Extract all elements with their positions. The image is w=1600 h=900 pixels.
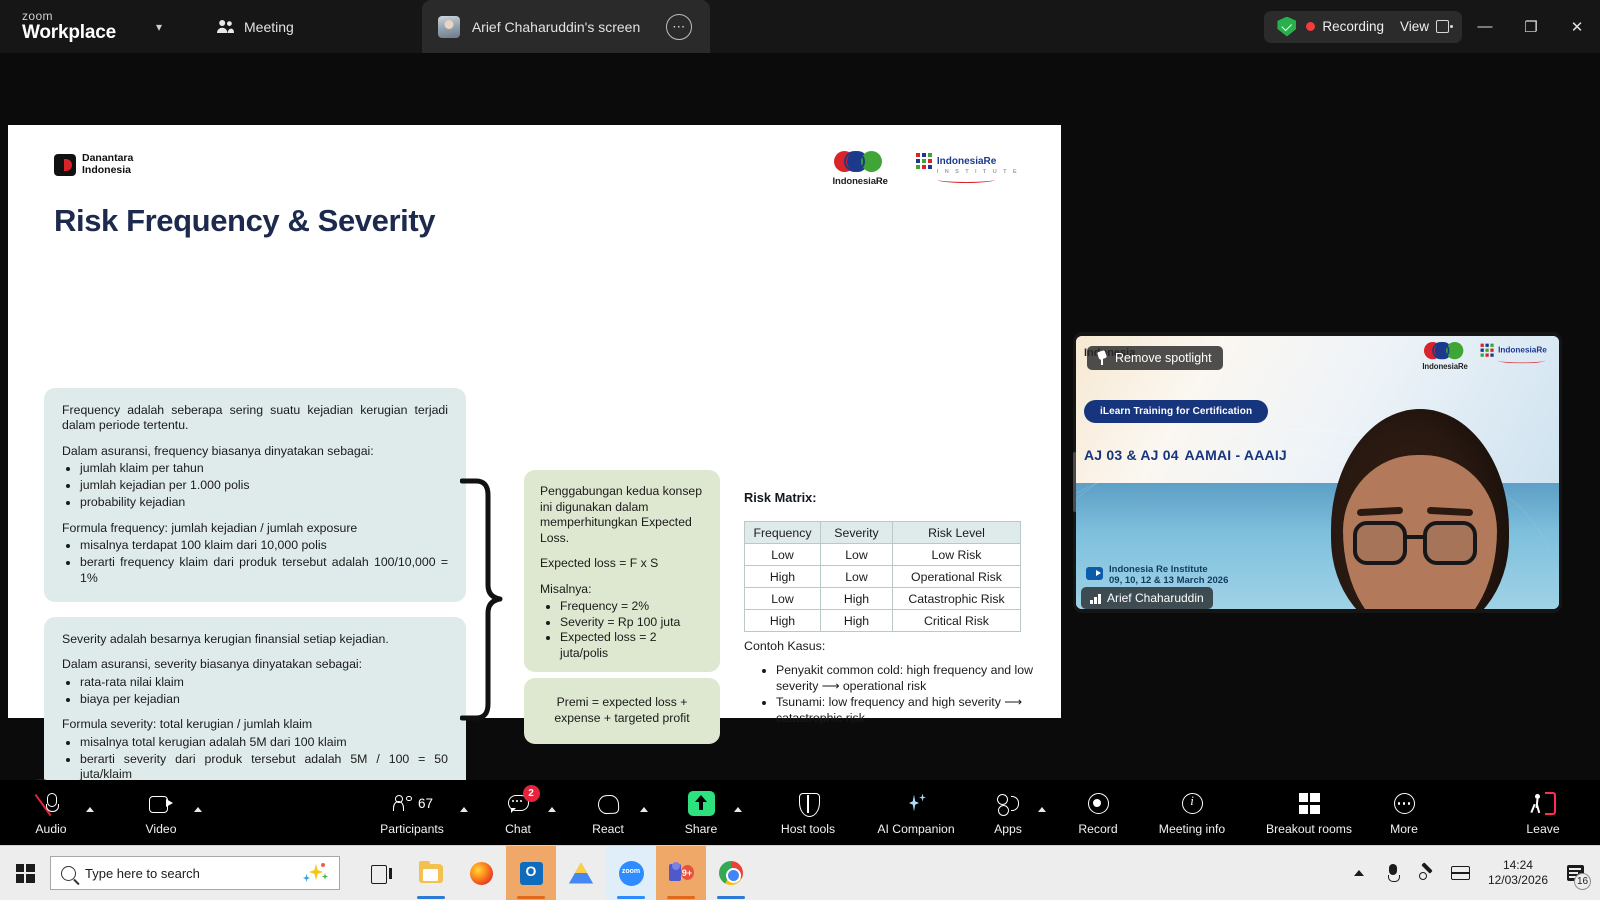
status-pill: Recording View [1264,11,1462,43]
table-header-row: Frequency Severity Risk Level [745,522,1021,544]
list-item: Tsunami: low frequency and high severity… [776,695,1060,726]
shield-icon [799,793,818,815]
shield-check-icon[interactable] [1277,17,1296,37]
tab-meeting-label: Meeting [244,19,294,35]
danantara-logo: Danantara Indonesia [54,153,133,177]
shared-slide: Danantara Indonesia IndonesiaRe [8,125,1061,718]
contoh-kasus-list: Penyakit common cold: high frequency and… [776,663,1060,728]
video-label: Video [146,822,177,836]
virtual-bg-logos: IndonesiaRe IndonesiaRe [1422,342,1547,372]
pen-icon[interactable] [1410,846,1444,900]
host-tools-label: Host tools [781,822,835,836]
frequency-p1: Frequency adalah seberapa sering suatu k… [62,403,448,434]
cell-severity: Low [821,566,893,588]
remove-spotlight-button[interactable]: Remove spotlight [1087,346,1223,370]
list-item: berarti frequency klaim dari produk ters… [80,555,448,586]
risk-matrix-table: Frequency Severity Risk Level Low Low Lo… [744,521,1021,632]
participants-count: 67 [418,796,433,811]
institute-subtitle: I N S T I T U T E [937,169,1019,175]
frequency-panel: Frequency adalah seberapa sering suatu k… [44,388,466,602]
notification-center-button[interactable]: 16 [1558,846,1592,900]
view-label: View [1400,19,1429,34]
audio-options-caret-icon[interactable] [86,807,94,812]
meeting-info-label: Meeting info [1159,822,1225,836]
search-icon [61,866,76,881]
outlook-icon[interactable] [506,846,556,900]
list-item: Severity = Rp 100 juta [560,615,704,631]
heart-icon [598,794,618,813]
table-row: High High Critical Risk [745,610,1021,632]
apps-icon [997,794,1020,814]
virtual-bg-logo-re: IndonesiaRe [1422,363,1467,372]
virtual-bg-footer: Indonesia Re Institute 09, 10, 12 & 13 M… [1086,565,1228,587]
slide-logos: IndonesiaRe IndonesiaRe I N S T I T U T … [832,151,1019,187]
clock-time: 14:24 [1488,858,1548,873]
apps-label: Apps [994,822,1022,836]
dots-grid-icon [1481,342,1494,357]
risk-matrix-title: Risk Matrix: [744,490,817,505]
glasses-bridge [1407,535,1423,539]
column-header-severity: Severity [821,522,893,544]
cell-frequency: Low [745,588,821,610]
cell-severity: High [821,610,893,632]
table-row: Low High Catastrophic Risk [745,588,1021,610]
page-title: Risk Frequency & Severity [54,203,435,239]
virtual-bg-logo-inst: IndonesiaRe [1498,346,1547,355]
table-row: High Low Operational Risk [745,566,1021,588]
google-drive-icon[interactable] [556,846,606,900]
teams-badge: 9+ [681,865,694,880]
indonesiare-logo: IndonesiaRe [1422,342,1467,372]
tab-meeting[interactable]: Meeting [196,0,314,53]
indonesiare-logo: IndonesiaRe [832,151,887,187]
ai-companion-button[interactable]: AI Companion [870,790,962,836]
virtual-bg-title-bold: AJ 03 & AJ 04 [1084,447,1179,463]
list-item: misalnya total kerugian adalah 5M dari 1… [80,735,448,751]
layout-icon [1436,20,1449,33]
touch-keyboard-icon[interactable] [1444,846,1478,900]
severity-p3: Formula severity: total kerugian / jumla… [62,717,448,732]
virtual-bg-title: AJ 03 & AJ 04 AAMAI - AAAIJ [1084,440,1287,466]
list-item: Expected loss = 2 juta/polis [560,630,704,662]
record-icon [1088,793,1109,814]
cell-frequency: High [745,610,821,632]
selfview-video: Indonesia IndonesiaRe [1076,336,1559,609]
cell-risk-level: Low Risk [893,544,1021,566]
search-placeholder: Type here to search [85,866,294,881]
search-input[interactable]: Type here to search [50,856,340,890]
cell-risk-level: Operational Risk [893,566,1021,588]
list-item: Frequency = 2% [560,599,704,615]
notification-count-badge: 16 [1574,873,1591,890]
copilot-sparkle-icon[interactable] [303,863,329,883]
tab-overflow-icon[interactable]: ⋯ [666,14,692,40]
video-camera-icon [1086,567,1103,580]
expected-p1: Penggabungan kedua konsep ini digunakan … [540,484,704,546]
list-item: probability kejadian [80,495,448,511]
maximize-button[interactable]: ❐ [1508,0,1554,53]
more-label: More [1390,822,1418,836]
list-item: berarti severity dari produk tersebut ad… [80,752,448,783]
chat-label: Chat [505,822,531,836]
share-screen-icon [688,791,715,816]
remove-spotlight-label: Remove spotlight [1115,351,1212,365]
column-header-frequency: Frequency [745,522,821,544]
institute-swoosh-icon [937,176,995,183]
react-options-caret-icon[interactable] [640,807,648,812]
audio-signal-icon [1090,593,1101,604]
chat-button[interactable]: 2 Chat [496,790,540,836]
list-item: Penyakit common cold: high frequency and… [776,663,1060,694]
expected-loss-panel: Penggabungan kedua konsep ini digunakan … [524,470,720,672]
list-item: biaya per kejadian [80,692,448,708]
contoh-kasus-title: Contoh Kasus: [744,639,825,653]
leave-button[interactable]: Leave [1520,790,1566,836]
cell-frequency: Low [745,544,821,566]
severity-p2: Dalam asuransi, severity biasanya dinyat… [62,657,448,672]
cell-risk-level: Critical Risk [893,610,1021,632]
participants-label: Participants [380,822,444,836]
react-label: React [592,822,624,836]
frequency-p2: Dalam asuransi, frequency biasanya dinya… [62,444,448,459]
share-button[interactable]: Share [676,790,726,836]
frequency-bullets-2: misalnya terdapat 100 klaim dari 10,000 … [80,538,448,586]
audio-button[interactable]: Audio [24,790,78,836]
zoom-workplace-logo: zoom Workplace [22,10,132,43]
audio-group: Audio [24,790,94,836]
zoom-icon[interactable] [606,846,656,900]
frequency-bullets-1: jumlah klaim per tahun jumlah kejadian p… [80,461,448,510]
file-explorer-icon[interactable] [406,846,456,900]
meeting-control-bar: Audio Video 67 Participants [0,780,1600,845]
tab-shared-screen[interactable]: Arief Chaharuddin's screen ⋯ [422,0,710,53]
virtual-bg-badge: iLearn Training for Certification [1084,400,1268,423]
participant-name-label: Arief Chaharuddin [1107,591,1204,605]
people-icon [391,795,413,813]
firefox-icon[interactable] [456,846,506,900]
zoom-meeting-window: zoom Workplace ▾ Meeting Arief Chaharudd… [0,0,1600,900]
institute-swoosh-icon [1498,358,1546,364]
meeting-stage: Danantara Indonesia IndonesiaRe [0,53,1600,780]
curly-brace-icon [460,477,516,722]
table-row: Low Low Low Risk [745,544,1021,566]
microphone-icon[interactable] [1376,846,1410,900]
share-options-caret-icon[interactable] [734,807,742,812]
institute-text-bold: Re [984,156,997,167]
list-item: jumlah klaim per tahun [80,461,448,477]
indonesiare-text-bold: Re [876,176,888,187]
list-item: jumlah kejadian per 1.000 polis [80,478,448,494]
participants-button[interactable]: 67 Participants [372,790,452,836]
share-group: Share [676,790,742,836]
info-icon [1182,793,1203,814]
column-header-risk-level: Risk Level [893,522,1021,544]
clock[interactable]: 14:24 12/03/2026 [1478,858,1558,888]
grid-icon [1299,793,1320,814]
cell-risk-level: Catastrophic Risk [893,588,1021,610]
record-label: Record [1078,822,1117,836]
participant-name-badge: Arief Chaharuddin [1081,587,1213,609]
video-button[interactable]: Video [136,790,186,836]
expected-p2: Expected loss = F x S [540,556,704,572]
react-button[interactable]: React [584,790,632,836]
record-button[interactable]: Record [1070,790,1126,836]
windows-taskbar: Type here to search 9+ [0,845,1600,900]
expected-bullets: Frequency = 2% Severity = Rp 100 juta Ex… [560,599,704,662]
task-view-icon[interactable] [356,846,406,900]
video-options-caret-icon[interactable] [194,807,202,812]
chrome-icon[interactable] [706,846,756,900]
leave-door-icon [1530,792,1556,815]
chevron-down-icon[interactable]: ▾ [148,20,170,34]
audio-label: Audio [35,822,66,836]
list-item: misalnya terdapat 100 klaim dari 10,000 … [80,538,448,554]
breakout-rooms-button[interactable]: Breakout rooms [1258,790,1360,836]
indonesiare-rings-icon [834,151,886,172]
ellipsis-icon [1394,793,1415,814]
people-icon [216,19,235,34]
more-button[interactable]: More [1382,790,1426,836]
expected-p3: Misalnya: [540,582,704,598]
apps-button[interactable]: Apps [986,790,1030,836]
clock-date: 12/03/2026 [1488,873,1548,888]
indonesiare-rings-icon [1424,342,1467,359]
brand-workplace-text: Workplace [22,23,132,43]
severity-bullets-2: misalnya total kerugian adalah 5M dari 1… [80,735,448,783]
severity-p1: Severity adalah besarnya kerugian finans… [62,632,448,647]
severity-panel: Severity adalah besarnya kerugian finans… [44,617,466,802]
apps-options-caret-icon[interactable] [1038,807,1046,812]
start-button[interactable] [0,846,50,900]
cell-frequency: High [745,566,821,588]
premi-panel: Premi = expected loss + expense + target… [524,678,720,744]
indonesiare-text-light: Indonesia [832,176,875,187]
video-group: Video [136,790,202,836]
list-item: rata-rata nilai klaim [80,675,448,691]
frequency-p3: Formula frequency: jumlah kejadian / jum… [62,521,448,536]
windows-start-icon [16,864,35,883]
chat-group: 2 Chat [496,790,556,836]
leave-label: Leave [1526,822,1559,836]
system-tray: 14:24 12/03/2026 16 [1342,846,1600,900]
glasses-left-lens [1353,521,1407,565]
participants-options-caret-icon[interactable] [460,807,468,812]
avatar [438,16,460,38]
danantara-mark-icon [54,154,76,176]
microphone-muted-icon [45,793,58,814]
title-bar: zoom Workplace ▾ Meeting Arief Chaharudd… [0,0,1600,53]
sparkle-icon [905,793,927,815]
close-button[interactable]: ✕ [1554,0,1600,53]
participants-group: 67 Participants [372,790,468,836]
institute-text-light: Indonesia [937,156,984,167]
dots-grid-icon [916,151,932,169]
host-tools-button[interactable]: Host tools [770,790,846,836]
severity-bullets-1: rata-rata nilai klaim biaya per kejadian [80,675,448,707]
cell-severity: Low [821,544,893,566]
apps-group: Apps [986,790,1046,836]
taskbar-apps: 9+ [356,846,756,900]
breakout-rooms-label: Breakout rooms [1266,822,1352,836]
recording-indicator[interactable]: Recording [1306,19,1384,34]
recording-label: Recording [1322,19,1384,34]
react-group: React [584,790,648,836]
ai-companion-label: AI Companion [877,822,954,836]
indonesiare-institute-logo: IndonesiaRe I N S T I T U T E [916,151,1019,183]
virtual-bg-title-light: AAMAI - AAAIJ [1185,447,1287,463]
record-dot-icon [1306,22,1315,31]
meeting-info-button[interactable]: Meeting info [1150,790,1234,836]
selfview-thumbnail[interactable]: Indonesia IndonesiaRe [1073,332,1562,613]
microsoft-teams-icon[interactable]: 9+ [656,846,706,900]
glasses-right-lens [1423,521,1477,565]
cell-severity: High [821,588,893,610]
chat-unread-badge: 2 [523,785,540,802]
chevron-up-icon[interactable] [1342,846,1376,900]
danantara-line2: Indonesia [82,165,133,177]
minimize-button[interactable]: — [1462,0,1508,53]
pin-icon [1095,351,1108,365]
share-label: Share [685,822,718,836]
tab-shared-screen-label: Arief Chaharuddin's screen [472,19,640,35]
view-button[interactable]: View [1400,19,1449,34]
virtual-bg-foot-line2: 09, 10, 12 & 13 March 2026 [1109,576,1228,587]
danantara-line1: Danantara [82,153,133,165]
brand-zoom-text: zoom [22,10,132,23]
premi-text: Premi = expected loss + expense + target… [540,695,704,727]
chat-options-caret-icon[interactable] [548,807,556,812]
indonesiare-institute-logo: IndonesiaRe [1481,342,1547,363]
camera-icon [149,796,173,811]
window-status-controls: Recording View — ❐ ✕ [1264,0,1600,53]
